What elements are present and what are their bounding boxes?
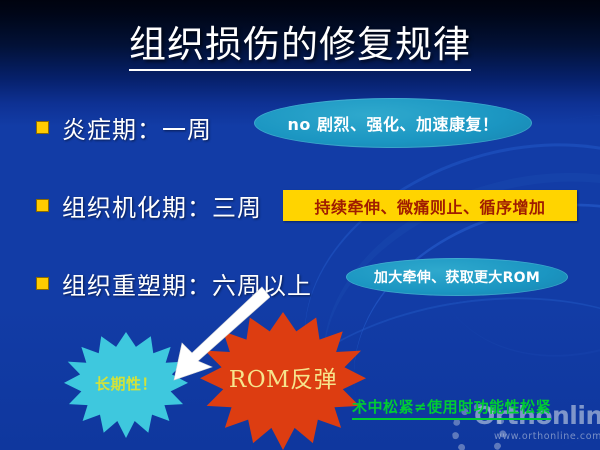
bullet-item-organization: 组织机化期：三周 (36, 188, 262, 223)
bullet-item-remodeling: 组织重塑期：六周以上 (36, 266, 312, 301)
bullet-label-organization: 组织机化期：三周 (62, 188, 262, 223)
bullet-label-remodeling: 组织重塑期：六周以上 (62, 266, 312, 301)
watermark-url-text: www.orthonline.com.cn (494, 431, 600, 442)
bullet-item-inflammation: 炎症期：一周 (36, 110, 212, 145)
square-bullet-icon (36, 199, 49, 212)
square-bullet-icon (36, 121, 49, 134)
star-burst-long-term: 长期性！ (64, 332, 188, 438)
callout-ellipse-inflammation-text: no 剧烈、强化、加速康复！ (288, 111, 499, 135)
slide-title: 组织损伤的修复规律 (0, 24, 600, 67)
star-burst-long-term-text: 长期性！ (95, 373, 157, 394)
callout-banner-organization-text: 持续牵伸、微痛则止、循序增加 (314, 194, 545, 218)
callout-ellipse-remodeling-text: 加大牵伸、获取更大ROM (374, 267, 540, 287)
slide-title-text: 组织损伤的修复规律 (129, 23, 471, 71)
callout-ellipse-remodeling: 加大牵伸、获取更大ROM (346, 258, 568, 296)
star-burst-rom-rebound-text: ROM反弹 (229, 360, 337, 394)
callout-ellipse-inflammation: no 剧烈、强化、加速康复！ (254, 98, 532, 148)
star-burst-rom-rebound: ROM反弹 (200, 312, 366, 450)
footnote-surgical-tension: 术中松紧≠使用时功能性松紧 (352, 396, 551, 420)
bullet-label-inflammation: 炎症期：一周 (62, 110, 212, 145)
callout-banner-organization: 持续牵伸、微痛则止、循序增加 (283, 190, 577, 221)
square-bullet-icon (36, 277, 49, 290)
presentation-slide: 组织损伤的修复规律 炎症期：一周 组织机化期：三周 组织重塑期：六周以上 no … (0, 0, 600, 450)
